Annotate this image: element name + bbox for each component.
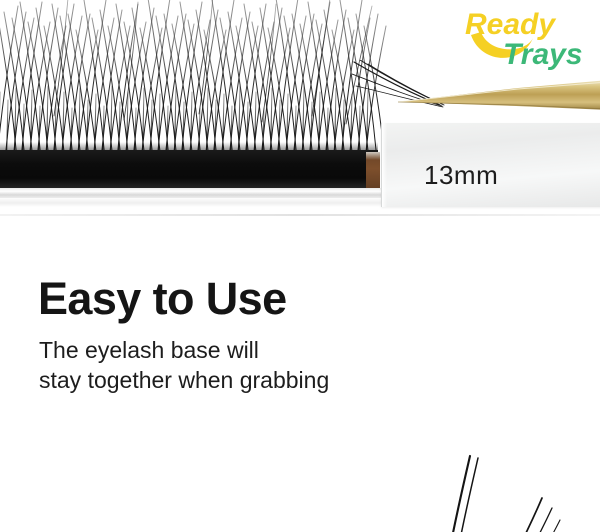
infographic-canvas: 13mm [0,0,600,532]
subheadline-line-1: The eyelash base will [39,335,384,365]
headline: Easy to Use [38,276,368,321]
lash-fan-closeup [330,454,600,532]
adhesive-tab-highlight [366,152,380,160]
size-label: 13mm [424,160,554,191]
lash-tray-photo-panel: 13mm [0,0,600,216]
subheadline: The eyelash base will stay together when… [39,335,384,396]
subheadline-line-2: stay together when grabbing [39,365,384,395]
benefit-panel: Easy to Use The eyelash base will stay t… [0,216,600,532]
lash-base-band [0,150,378,190]
brand-word-top: Ready [465,8,556,41]
gold-tweezers-top [398,80,600,126]
brand-word-bottom: Trays [503,38,583,71]
brand-logo: Ready Trays [455,2,600,74]
